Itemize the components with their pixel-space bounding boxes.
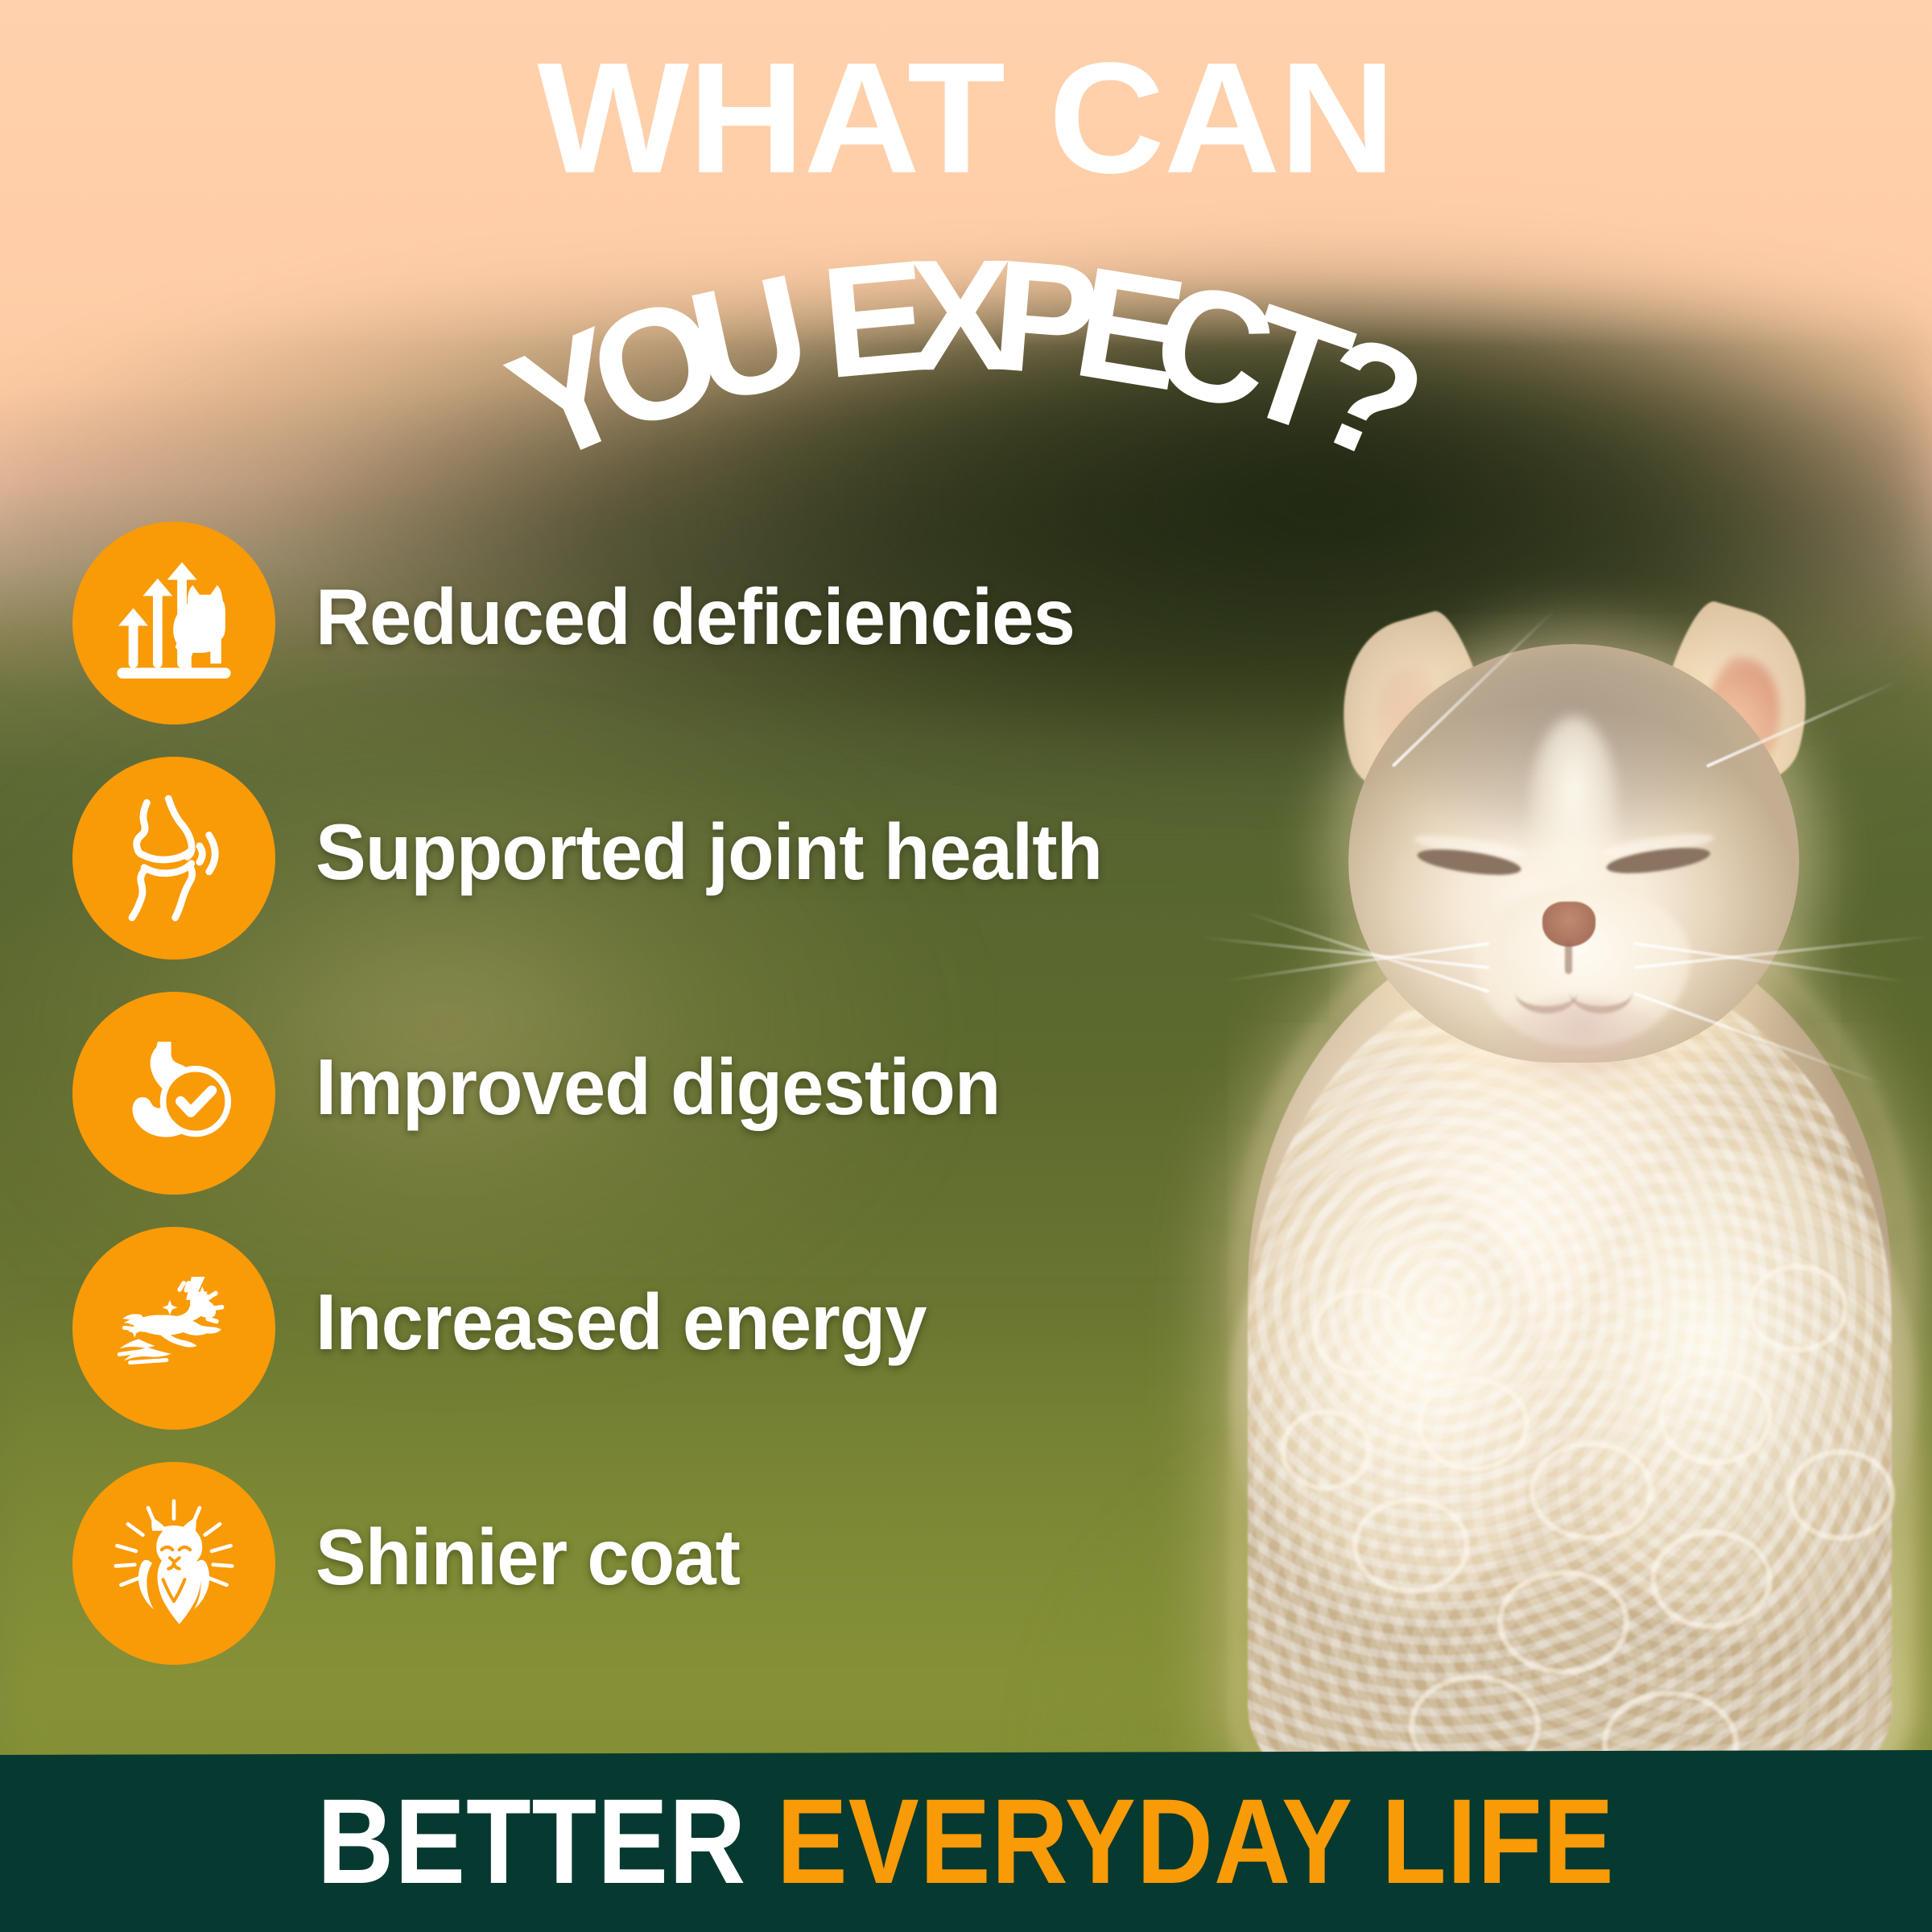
headline-line-1: WHAT CAN bbox=[0, 43, 1932, 193]
poster-canvas: WHAT CAN YOU EXPECT? bbox=[0, 0, 1932, 1932]
cat-growth-arrows-icon bbox=[106, 555, 242, 691]
benefit-icon-badge bbox=[72, 1462, 275, 1665]
list-item: Increased energy bbox=[72, 1227, 1328, 1462]
footer-word-better: BETTER bbox=[317, 1773, 746, 1909]
list-item: Reduced deficiencies bbox=[72, 522, 1328, 757]
list-item: Shinier coat bbox=[72, 1462, 1328, 1697]
benefit-icon-badge bbox=[72, 757, 275, 960]
benefit-icon-badge bbox=[72, 522, 275, 724]
benefit-icon-badge bbox=[72, 992, 275, 1195]
benefit-label: Shinier coat bbox=[316, 1512, 740, 1603]
benefit-label: Improved digestion bbox=[316, 1042, 1000, 1133]
knee-joint-icon bbox=[106, 791, 242, 926]
list-item: Supported joint health bbox=[72, 757, 1328, 992]
running-cat-bolt-icon bbox=[106, 1261, 242, 1396]
benefit-label: Increased energy bbox=[316, 1277, 927, 1368]
benefit-icon-badge bbox=[72, 1227, 275, 1430]
benefit-label: Reduced deficiencies bbox=[316, 572, 1075, 663]
shining-cat-icon bbox=[106, 1496, 242, 1631]
headline-line-2: YOU EXPECT? bbox=[0, 201, 1932, 394]
page-title: WHAT CAN YOU EXPECT? bbox=[0, 43, 1932, 394]
footer-tagline: BETTER EVERYDAY LIFE bbox=[317, 1781, 1615, 1901]
footer-word-everyday-life: EVERYDAY LIFE bbox=[777, 1773, 1615, 1909]
list-item: Improved digestion bbox=[72, 992, 1328, 1227]
stomach-check-icon bbox=[106, 1026, 242, 1161]
footer-banner: BETTER EVERYDAY LIFE bbox=[0, 1750, 1932, 1932]
benefit-label: Supported joint health bbox=[316, 807, 1102, 898]
benefit-list: Reduced deficiencies bbox=[72, 522, 1328, 1697]
